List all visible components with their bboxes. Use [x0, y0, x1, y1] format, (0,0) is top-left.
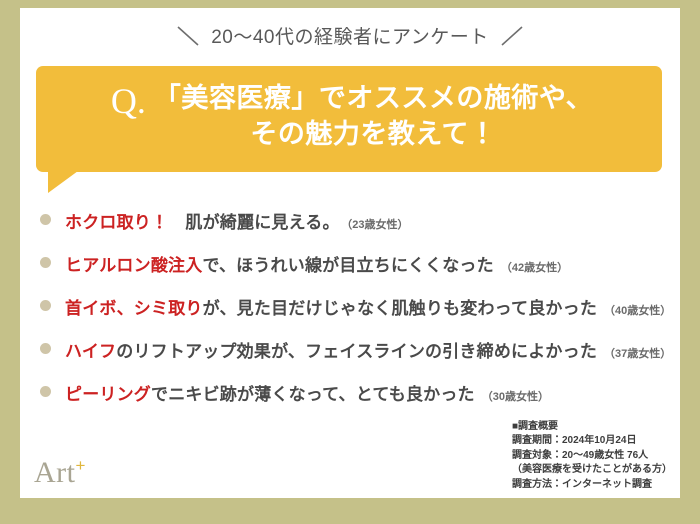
card-inner: 20〜40代の経験者にアンケート Q. 「美容医療」でオススメの施術や、 その魅… — [20, 8, 680, 498]
header-title: 20〜40代の経験者にアンケート — [211, 22, 489, 49]
answer-highlight: ハイフ — [65, 342, 116, 361]
list-item: ヒアルロン酸注入で、ほうれい線が目立ちにくくなった（42歳女性） — [30, 251, 672, 294]
dot-icon — [40, 386, 51, 397]
brand-name: Art — [34, 456, 76, 489]
answer-highlight: ホクロ取り！ — [65, 213, 168, 232]
dot-icon — [40, 257, 51, 268]
answer-text: ピーリングでニキビ跡が薄くなって、とても良かった（30歳女性） — [65, 380, 549, 405]
question-line-1: 「美容医療」でオススメの施術や、 — [154, 83, 593, 113]
answer-rest: が、見た目だけじゃなく肌触りも変わって良かった — [203, 299, 597, 318]
question-marker: Q. — [111, 83, 146, 119]
answer-respondent: （37歳女性） — [604, 348, 671, 360]
answer-rest: のリフトアップ効果が、フェイスラインの引き締めによかった — [116, 342, 597, 361]
question-bubble: Q. 「美容医療」でオススメの施術や、 その魅力を教えて！ — [36, 66, 662, 172]
brand-plus-icon: + — [76, 456, 86, 475]
answer-rest: で、ほうれい線が目立ちにくくなった — [202, 256, 493, 275]
answer-text: ヒアルロン酸注入で、ほうれい線が目立ちにくくなった（42歳女性） — [65, 251, 568, 276]
list-item: ピーリングでニキビ跡が薄くなって、とても良かった（30歳女性） — [30, 380, 672, 423]
backslash-icon — [175, 24, 201, 48]
question-bubble-tail — [48, 171, 78, 193]
list-item: ハイフのリフトアップ効果が、フェイスラインの引き締めによかった（37歳女性） — [30, 337, 672, 380]
answer-respondent: （40歳女性） — [604, 305, 671, 317]
list-item: 首イボ、シミ取りが、見た目だけじゃなく肌触りも変わって良かった（40歳女性） — [30, 294, 672, 337]
answer-list: ホクロ取り！ 肌が綺麗に見える。（23歳女性） ヒアルロン酸注入で、ほうれい線が… — [30, 208, 672, 423]
dot-icon — [40, 343, 51, 354]
answer-text: 首イボ、シミ取りが、見た目だけじゃなく肌触りも変わって良かった（40歳女性） — [65, 294, 671, 319]
infographic-card: 20〜40代の経験者にアンケート Q. 「美容医療」でオススメの施術や、 その魅… — [0, 0, 700, 524]
list-item: ホクロ取り！ 肌が綺麗に見える。（23歳女性） — [30, 208, 672, 251]
answer-highlight: 首イボ、シミ取り — [65, 299, 203, 318]
header: 20〜40代の経験者にアンケート — [20, 22, 680, 49]
dot-icon — [40, 214, 51, 225]
answer-rest: でニキビ跡が薄くなって、とても良かった — [151, 385, 475, 404]
answer-rest: 肌が綺麗に見える。 — [168, 213, 340, 232]
forwardslash-icon — [499, 24, 525, 48]
dot-icon — [40, 300, 51, 311]
survey-heading: ■調査概要 — [512, 420, 672, 435]
question-text: 「美容医療」でオススメの施術や、 その魅力を教えて！ — [154, 81, 593, 152]
answer-highlight: ヒアルロン酸注入 — [65, 256, 202, 275]
question-row: Q. 「美容医療」でオススメの施術や、 その魅力を教えて！ — [46, 81, 652, 152]
survey-method: 調査方法：インターネット調査 — [512, 478, 672, 493]
survey-details: ■調査概要 調査期間：2024年10月24日 調査対象：20〜49歳女性 76人… — [512, 420, 672, 493]
answer-text: ホクロ取り！ 肌が綺麗に見える。（23歳女性） — [65, 208, 408, 233]
survey-period: 調査期間：2024年10月24日 — [512, 434, 672, 449]
answer-highlight: ピーリング — [65, 385, 151, 404]
survey-target-note: （美容医療を受けたことがある方） — [512, 463, 672, 478]
answer-text: ハイフのリフトアップ効果が、フェイスラインの引き締めによかった（37歳女性） — [65, 337, 671, 362]
brand-logo: Art+ — [34, 456, 86, 490]
answer-respondent: （23歳女性） — [347, 219, 409, 231]
question-line-2: その魅力を教えて！ — [154, 117, 593, 153]
survey-target: 調査対象：20〜49歳女性 76人 — [512, 449, 672, 464]
answer-respondent: （30歳女性） — [482, 391, 549, 403]
answer-respondent: （42歳女性） — [501, 262, 568, 274]
